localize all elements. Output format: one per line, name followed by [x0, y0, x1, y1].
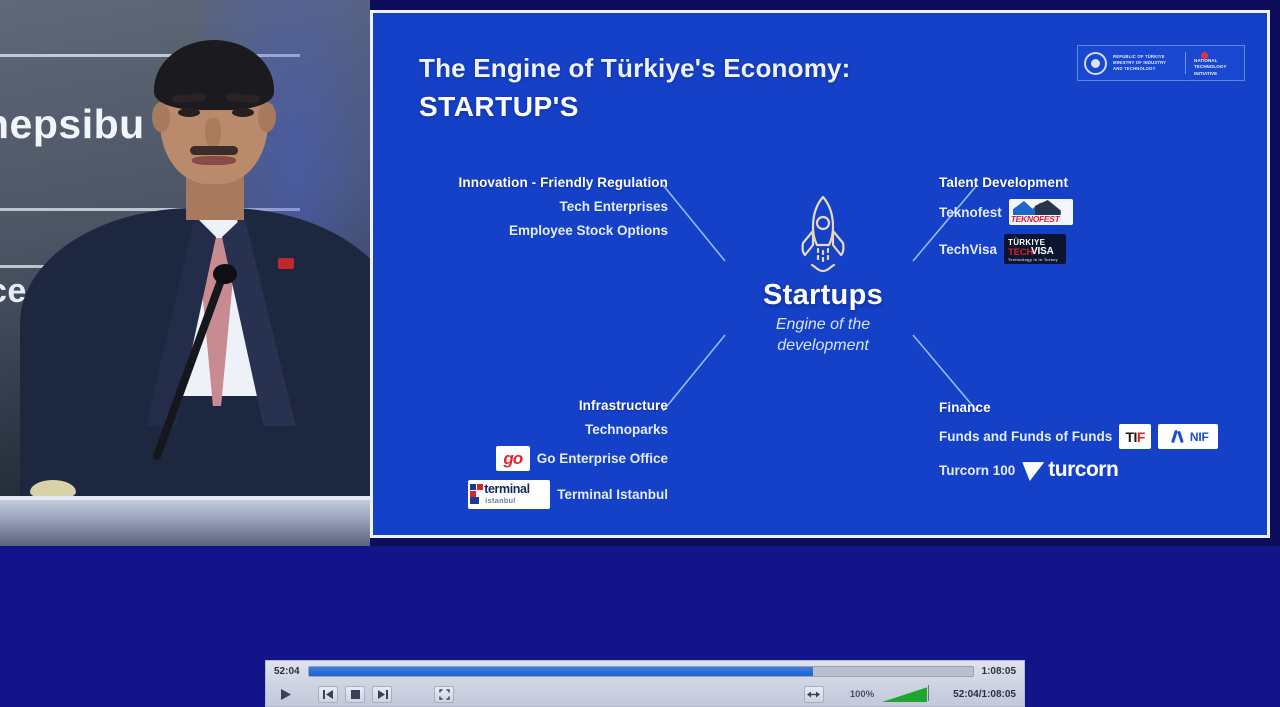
slide-title: The Engine of Türkiye's Economy: STARTUP…: [419, 53, 851, 123]
terminal-logo-name: terminal: [484, 483, 529, 496]
stop-button[interactable]: [345, 686, 365, 703]
terminal-logo-sub: istanbul: [485, 497, 515, 505]
tif-logo-red: F: [1137, 429, 1145, 445]
item-label: Funds and Funds of Funds: [939, 429, 1112, 444]
speaker-ear-left: [152, 102, 170, 132]
center-cluster: Startups Engine of the development: [703, 193, 943, 357]
national-technology-initiative-logo: NATIONAL TECHNOLOGY INITIATIVE: [1192, 50, 1238, 76]
rocket-icon: [703, 193, 943, 277]
current-time-label: 52:04: [274, 666, 300, 677]
speaker-nose: [205, 118, 221, 148]
turcorn-logo-text: turcorn: [1048, 458, 1118, 482]
list-item: Funds and Funds of Funds TIF NIF: [939, 424, 1249, 449]
camera-feed-panel: hepsibu ce: [0, 0, 370, 546]
nti-logo-text: NATIONAL TECHNOLOGY INITIATIVE: [1194, 58, 1226, 77]
nif-mark-icon: [1171, 429, 1187, 445]
item-label: Tech Enterprises: [559, 199, 668, 214]
speaker-moustache: [190, 146, 238, 155]
center-subtitle: Engine of the development: [703, 315, 943, 357]
terminal-istanbul-logo: terminal istanbul: [468, 480, 550, 509]
list-item: Teknofest TEKNOFEST: [939, 199, 1239, 225]
quadrant-innovation: Innovation - Friendly Regulation Tech En…: [413, 175, 668, 238]
speaker-mouth: [192, 156, 236, 165]
slide-title-line1: The Engine of Türkiye's Economy:: [419, 53, 851, 84]
slide-title-line2: STARTUP'S: [419, 91, 851, 123]
presentation-slide: The Engine of Türkiye's Economy: STARTUP…: [370, 10, 1270, 538]
item-label: Technoparks: [585, 422, 668, 437]
ministry-logo-text: REPUBLIC OF TÜRKIYE MINISTRY OF INDUSTRY…: [1113, 54, 1179, 72]
terminal-mark-icon: [470, 484, 483, 504]
ministry-logo: REPUBLIC OF TÜRKIYE MINISTRY OF INDUSTRY…: [1077, 45, 1245, 81]
nif-logo-text: NIF: [1190, 430, 1209, 444]
center-title: Startups: [703, 279, 943, 312]
video-player-controls[interactable]: 52:04 1:08:05 100%: [265, 660, 1025, 707]
volume-slider[interactable]: [881, 685, 933, 703]
microphone-icon: [213, 264, 237, 284]
item-label: Teknofest: [939, 205, 1002, 220]
item-label: Terminal Istanbul: [557, 487, 668, 502]
quadrant-finance-heading: Finance: [939, 400, 1249, 415]
speaker-figure: [50, 40, 350, 546]
go-logo-text: go: [503, 450, 522, 467]
go-enterprise-office-logo: go: [496, 446, 530, 471]
time-readout: 52:04/1:08:05: [953, 689, 1016, 700]
list-item: TechVisa TÜRKIYE TECH VISA Technology is…: [939, 234, 1239, 264]
list-item: Employee Stock Options: [413, 223, 668, 238]
tif-logo-dark: TI: [1125, 429, 1136, 445]
item-label: Turcorn 100: [939, 463, 1015, 478]
next-button[interactable]: [372, 686, 392, 703]
quadrant-talent-heading: Talent Development: [939, 175, 1239, 190]
turcorn-mark-icon: [1022, 459, 1044, 481]
quadrant-finance: Finance Funds and Funds of Funds TIF NIF…: [939, 400, 1249, 482]
total-time-label: 1:08:05: [982, 666, 1016, 677]
progress-fill: [309, 667, 814, 676]
teknofest-logo: TEKNOFEST: [1009, 199, 1073, 225]
turcorn-logo: turcorn: [1022, 458, 1118, 482]
list-item: Tech Enterprises: [413, 199, 668, 214]
ministry-logo-divider: [1185, 52, 1186, 74]
controls-row: 100% 52:04/1:08:05: [266, 683, 1024, 706]
item-label: Employee Stock Options: [509, 223, 668, 238]
techvisa-tagline: Technology is in Turkey: [1008, 257, 1058, 262]
techvisa-logo: TÜRKIYE TECH VISA Technology is in Turke…: [1004, 234, 1066, 264]
quadrant-talent-development: Talent Development Teknofest TEKNOFEST T…: [939, 175, 1239, 264]
list-item: Technoparks: [413, 422, 668, 437]
techvisa-line3: VISA: [1031, 246, 1054, 257]
progress-row: 52:04 1:08:05: [266, 661, 1024, 683]
list-item: go Go Enterprise Office: [413, 446, 668, 471]
teknofest-logo-text: TEKNOFEST: [1011, 214, 1060, 224]
zoom-level-label: 100%: [850, 689, 874, 700]
quadrant-innovation-heading: Innovation - Friendly Regulation: [413, 175, 668, 190]
tif-logo: TIF: [1119, 424, 1151, 449]
play-button[interactable]: [274, 686, 296, 703]
fullscreen-button[interactable]: [434, 686, 454, 703]
video-stage[interactable]: hepsibu ce: [0, 0, 1280, 546]
quadrant-infrastructure: Infrastructure Technoparks go Go Enterpr…: [413, 398, 668, 509]
list-item: Turcorn 100 turcorn: [939, 458, 1249, 482]
flag-pin-icon: [278, 258, 294, 269]
quadrant-infrastructure-heading: Infrastructure: [413, 398, 668, 413]
ministry-seal-icon: [1084, 52, 1107, 75]
item-label: Go Enterprise Office: [537, 451, 668, 466]
item-label: TechVisa: [939, 242, 997, 257]
seek-slider[interactable]: [308, 666, 974, 677]
podium: [0, 500, 370, 546]
speaker-eye-left: [178, 108, 200, 117]
speaker-eye-right: [232, 108, 254, 117]
stretch-button[interactable]: [804, 686, 824, 703]
nif-logo: NIF: [1158, 424, 1218, 449]
speaker-ear-right: [258, 102, 276, 132]
previous-button[interactable]: [318, 686, 338, 703]
list-item: terminal istanbul Terminal Istanbul: [413, 480, 668, 509]
